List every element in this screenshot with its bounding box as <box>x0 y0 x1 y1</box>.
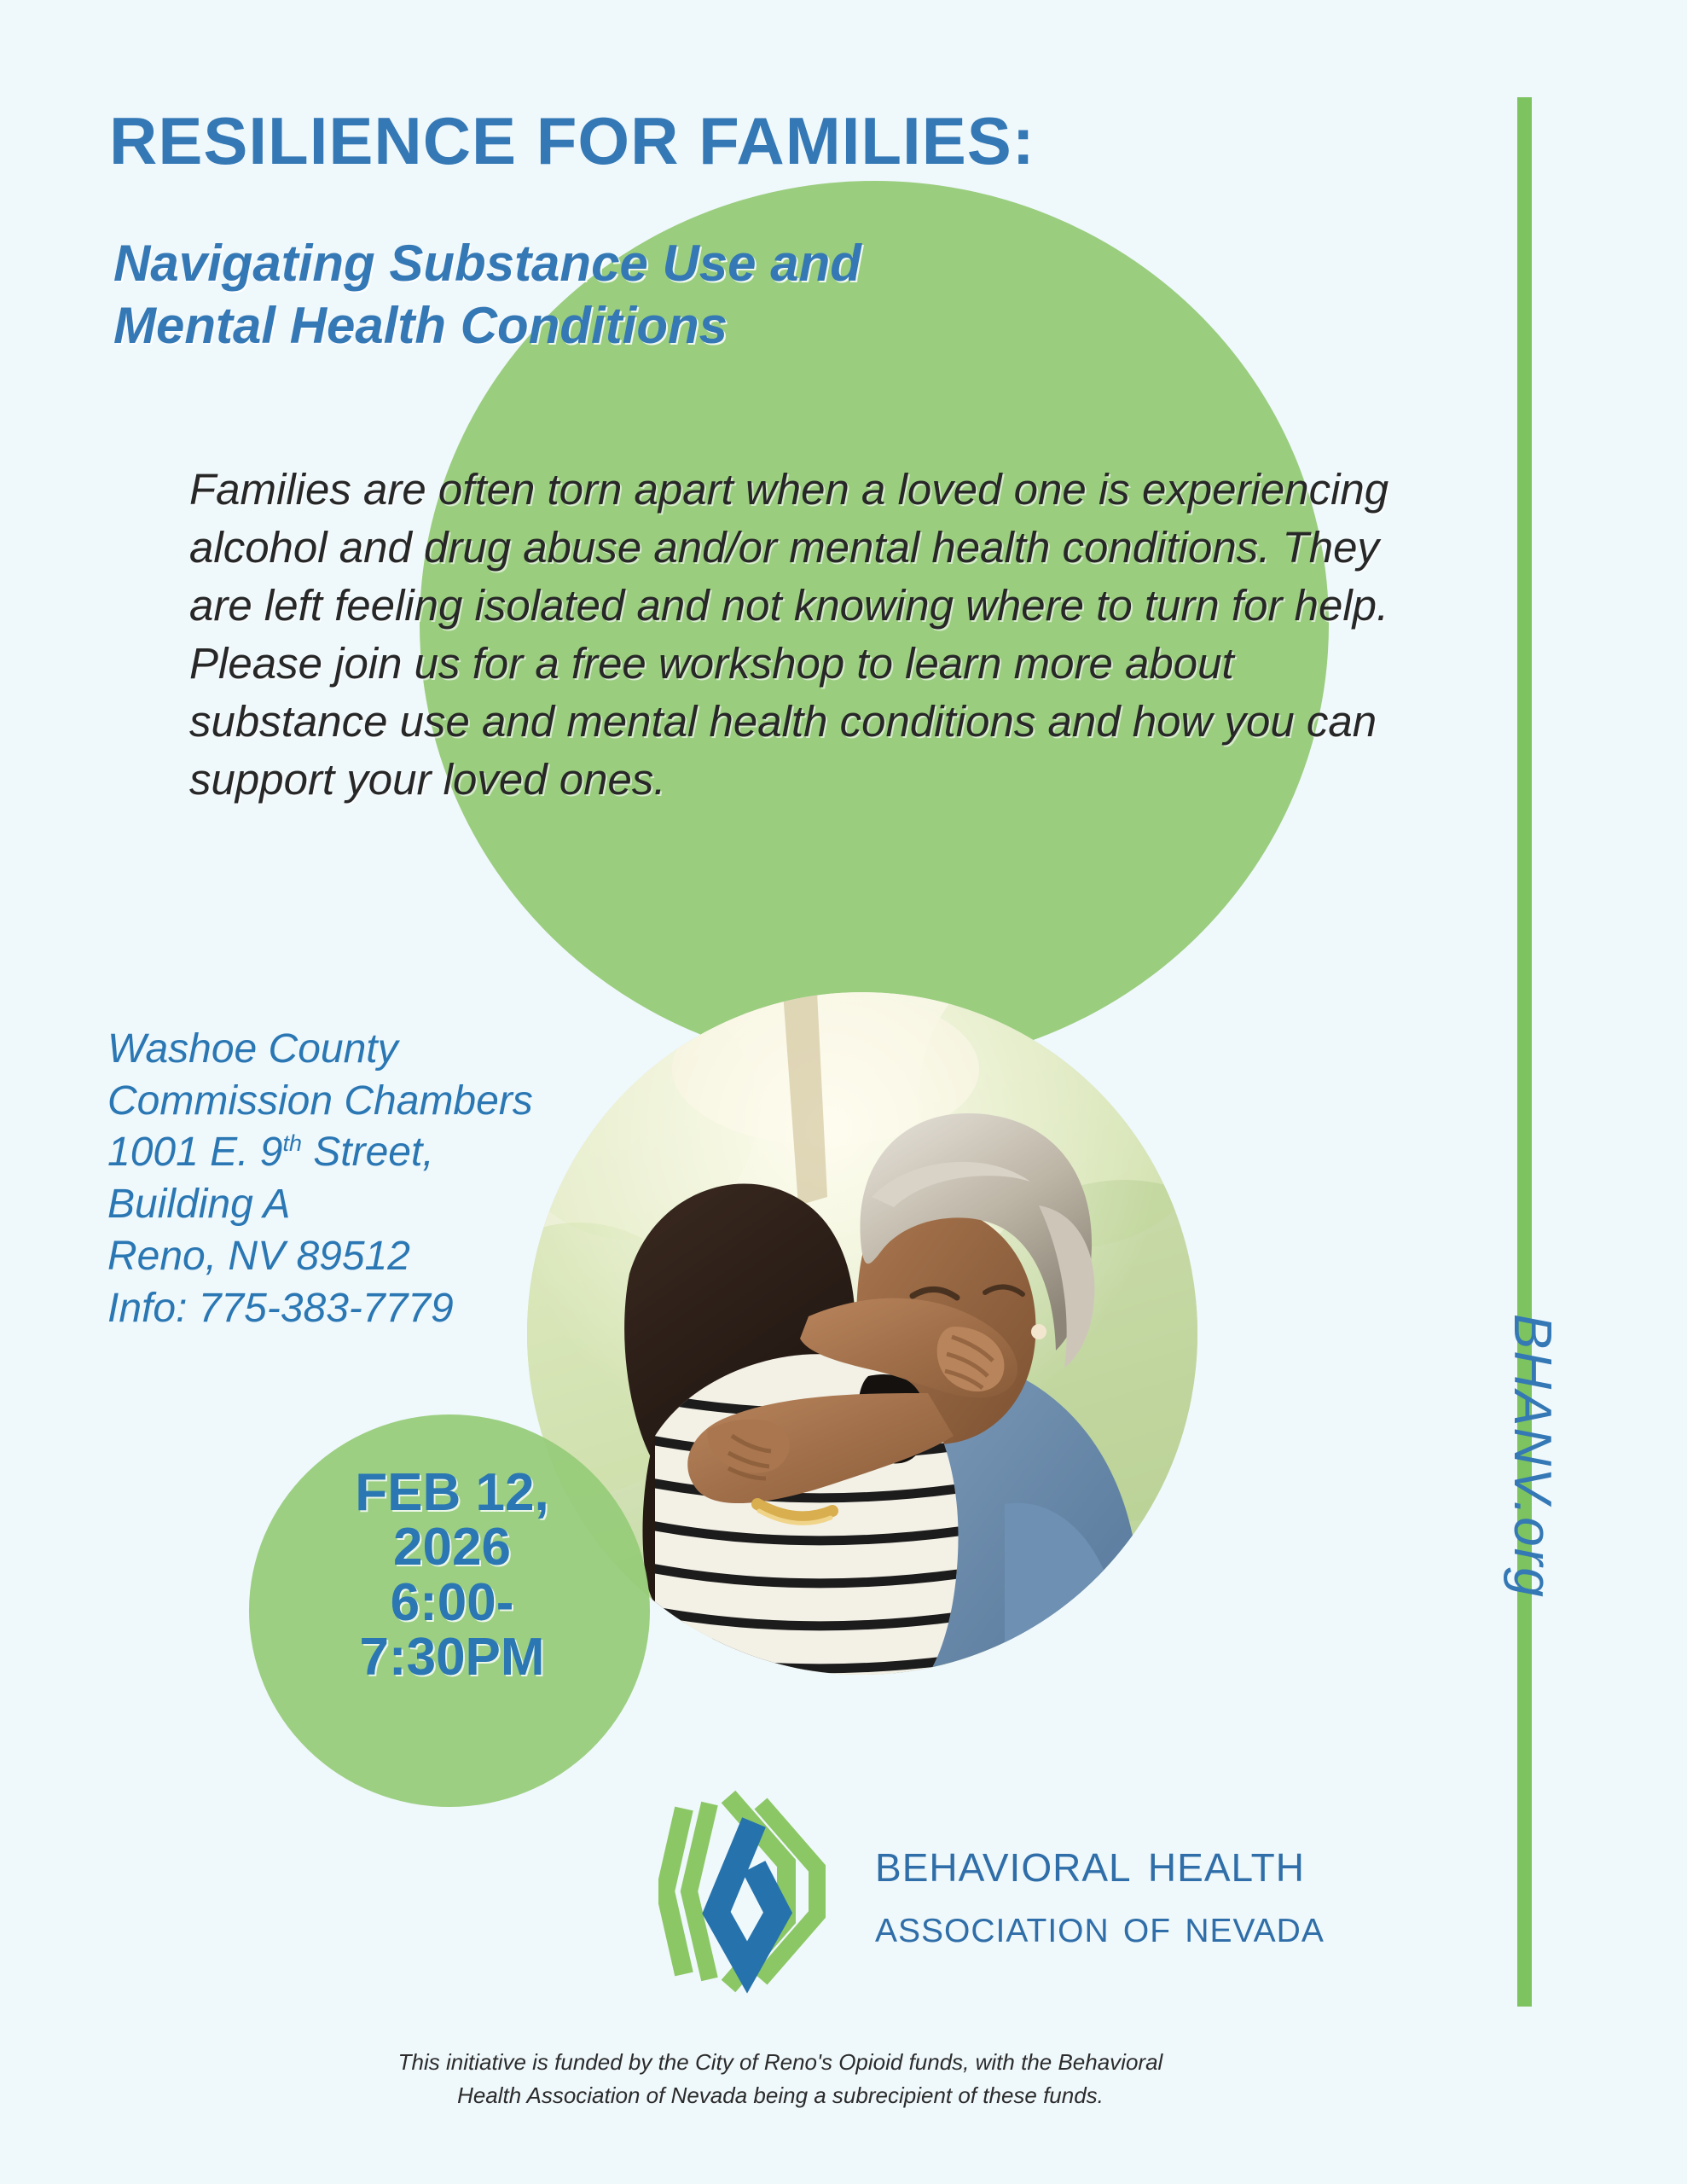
event-time-end: 7:30PM <box>256 1630 648 1685</box>
venue-street-ordinal-suffix: th <box>283 1130 302 1156</box>
venue-line-building: Building A <box>107 1179 533 1231</box>
event-date-time-badge: FEB 12, 2026 6:00- 7:30PM <box>256 1466 648 1686</box>
venue-line-street: 1001 E. 9th Street, <box>107 1127 533 1179</box>
page-subtitle-line-1: Navigating Substance Use and <box>113 232 861 294</box>
organization-logo-text: Behavioral Health Association of Nevada <box>875 1832 1325 1952</box>
organization-logo: Behavioral Health Association of Nevada <box>658 1785 1325 1998</box>
body-paragraph: Families are often torn apart when a lov… <box>189 461 1400 809</box>
flyer-page: RESILIENCE FOR FAMILIES: Navigating Subs… <box>0 0 1687 2184</box>
event-date-line: FEB 12, <box>256 1466 648 1520</box>
organization-name-line-1: Behavioral Health <box>875 1832 1325 1892</box>
venue-details: Washoe County Commission Chambers 1001 E… <box>107 1024 533 1334</box>
page-subtitle-line-2: Mental Health Conditions <box>113 294 861 357</box>
page-subtitle: Navigating Substance Use and Mental Heal… <box>113 232 861 357</box>
event-year-line: 2026 <box>256 1520 648 1575</box>
right-green-accent-bar <box>1517 97 1532 2007</box>
venue-line-city-state-zip: Reno, NV 89512 <box>107 1231 533 1283</box>
funding-disclaimer-line-2: Health Association of Nevada being a sub… <box>281 2079 1279 2112</box>
venue-line-organization: Washoe County <box>107 1024 533 1076</box>
venue-line-room: Commission Chambers <box>107 1076 533 1128</box>
venue-street-number: 1001 E. 9 <box>107 1130 283 1175</box>
venue-street-name: Street, <box>302 1130 434 1175</box>
bhanv-diamond-chevron-icon <box>658 1785 838 1998</box>
page-title: RESILIENCE FOR FAMILIES: <box>109 107 1035 174</box>
venue-line-phone[interactable]: Info: 775-383-7779 <box>107 1283 533 1335</box>
funding-disclaimer-line-1: This initiative is funded by the City of… <box>281 2046 1279 2079</box>
website-vertical-label[interactable]: BHANV.org <box>1502 1314 1562 1599</box>
bhanv-logo-svg <box>658 1785 838 1998</box>
event-time-start: 6:00- <box>256 1576 648 1630</box>
organization-name-line-2: Association of Nevada <box>875 1901 1325 1951</box>
funding-disclaimer: This initiative is funded by the City of… <box>281 2046 1279 2112</box>
